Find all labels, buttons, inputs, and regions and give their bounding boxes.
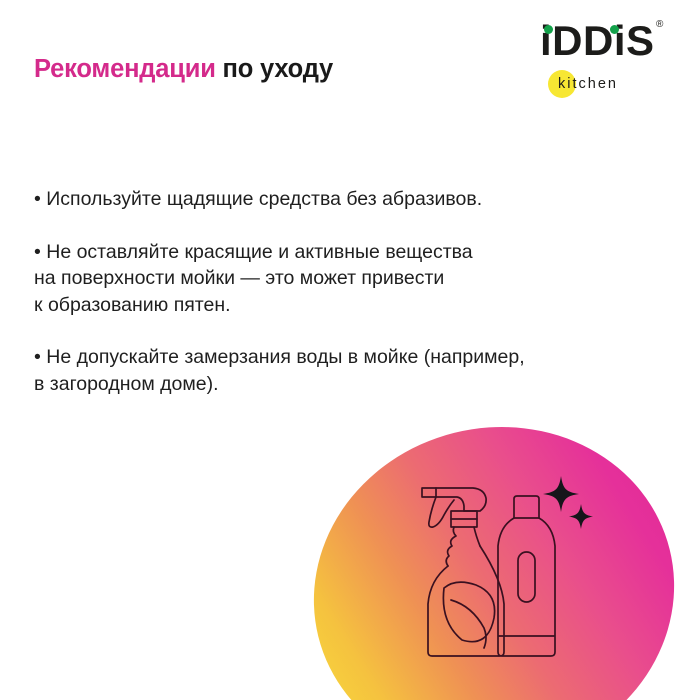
logo-green-dot-first-i-icon — [544, 25, 553, 34]
care-tip-item: • Используйте щадящие средства без абраз… — [34, 186, 674, 213]
care-tip-item: • Не оставляйте красящие и активные веще… — [34, 239, 674, 319]
registered-trademark-icon: ® — [656, 20, 663, 30]
cleaning-products-illustration — [418, 470, 618, 665]
spray-bottle-icon — [422, 488, 504, 656]
page-title-accent: Рекомендации — [34, 55, 216, 83]
logo-wordmark-text: iDDiS — [540, 18, 655, 64]
page-title-plain: по уходу — [216, 55, 333, 83]
sparkle-large-icon — [543, 476, 579, 512]
logo-wordmark-group: iDDiS ® — [540, 18, 670, 64]
page-title: Рекомендации по уходу — [34, 55, 333, 83]
logo-subbrand-text: kitchen — [558, 76, 618, 93]
logo-subbrand-group: kitchen — [548, 70, 668, 100]
logo-green-dot-second-i-icon — [610, 25, 619, 34]
sparkle-small-icon — [569, 504, 593, 529]
detergent-bottle-icon — [498, 496, 555, 656]
care-tips-list: • Используйте щадящие средства без абраз… — [34, 186, 674, 397]
care-tip-item: • Не допускайте замерзания воды в мойке … — [34, 344, 674, 397]
sparkle-group — [418, 476, 593, 579]
care-recommendations-slide: Рекомендации по уходу iDDiS ® kitchen • … — [0, 0, 700, 700]
iddis-logo: iDDiS ® kitchen — [540, 18, 670, 106]
